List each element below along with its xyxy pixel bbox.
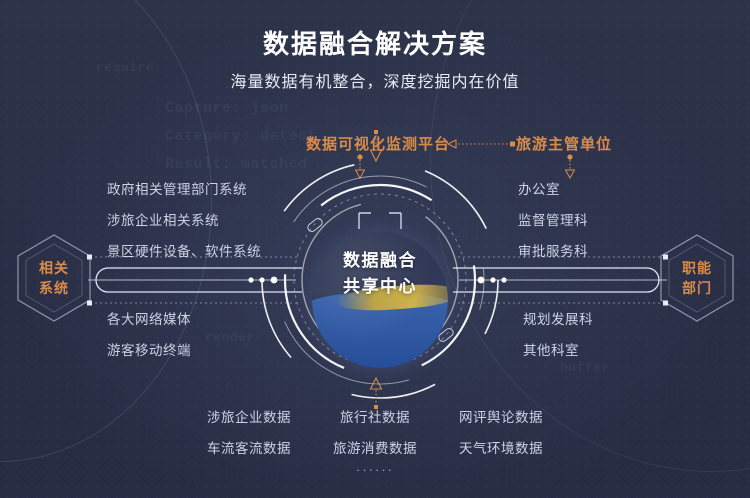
- list-item[interactable]: 其他科室: [523, 339, 593, 359]
- background-code-1: Category: detect: [165, 128, 317, 145]
- ring-marker-bottom-icon: [369, 376, 383, 410]
- list-item[interactable]: 各大网络媒体: [107, 308, 191, 328]
- list-item[interactable]: 游客移动终端: [107, 339, 191, 359]
- list-item[interactable]: 办公室: [518, 178, 588, 198]
- bottom-grid-column: 涉旅企业数据 车流客流数据: [207, 406, 291, 468]
- infographic-canvas: Capture: json Category: detect Result: m…: [0, 0, 750, 498]
- bottom-data-grid: 涉旅企业数据 车流客流数据 旅行社数据 旅游消费数据 网评舆论数据 天气环境数据: [0, 406, 750, 468]
- hexagon-right-line2: 部门: [682, 278, 712, 298]
- right-bottom-list: 规划发展科 其他科室: [523, 308, 593, 370]
- center-line2: 共享中心: [312, 274, 448, 300]
- list-item[interactable]: 规划发展科: [523, 308, 593, 328]
- background-code-4: render: [205, 330, 255, 345]
- dropper-marker-authority-icon: [564, 154, 576, 180]
- list-item[interactable]: 政府相关管理部门系统: [107, 178, 261, 198]
- background-code-0: Capture: json: [165, 100, 289, 117]
- page-subtitle: 海量数据有机整合，深度挖掘内在价值: [0, 68, 750, 92]
- center-label: 数据融合 共享中心: [312, 248, 448, 299]
- grid-cell[interactable]: 旅游消费数据: [333, 437, 417, 457]
- grid-cell[interactable]: 天气环境数据: [459, 437, 543, 457]
- grid-ellipsis: ······: [0, 462, 750, 477]
- bottom-grid-column: 旅行社数据 旅游消费数据: [333, 406, 417, 468]
- hexagon-right-line1: 职能: [682, 258, 712, 278]
- grid-cell[interactable]: 车流客流数据: [207, 437, 291, 457]
- hexagon-left-line2: 系统: [39, 278, 69, 298]
- list-item[interactable]: 涉旅企业相关系统: [107, 209, 261, 229]
- bottom-grid-column: 网评舆论数据 天气环境数据: [459, 406, 543, 468]
- page-title: 数据融合解决方案: [0, 24, 750, 61]
- grid-cell[interactable]: 涉旅企业数据: [207, 406, 291, 426]
- left-bottom-list: 各大网络媒体 游客移动终端: [107, 308, 191, 370]
- grid-cell[interactable]: 旅行社数据: [340, 406, 410, 426]
- label-tourism-authority[interactable]: 旅游主管单位: [516, 133, 612, 154]
- grid-cell[interactable]: 网评舆论数据: [459, 406, 543, 426]
- center-line1: 数据融合: [312, 248, 448, 274]
- ring-marker-top-icon: [369, 130, 383, 164]
- arrow-connector-icon: [446, 138, 518, 150]
- hexagon-left-line1: 相关: [39, 258, 69, 278]
- list-item[interactable]: 监督管理科: [518, 209, 588, 229]
